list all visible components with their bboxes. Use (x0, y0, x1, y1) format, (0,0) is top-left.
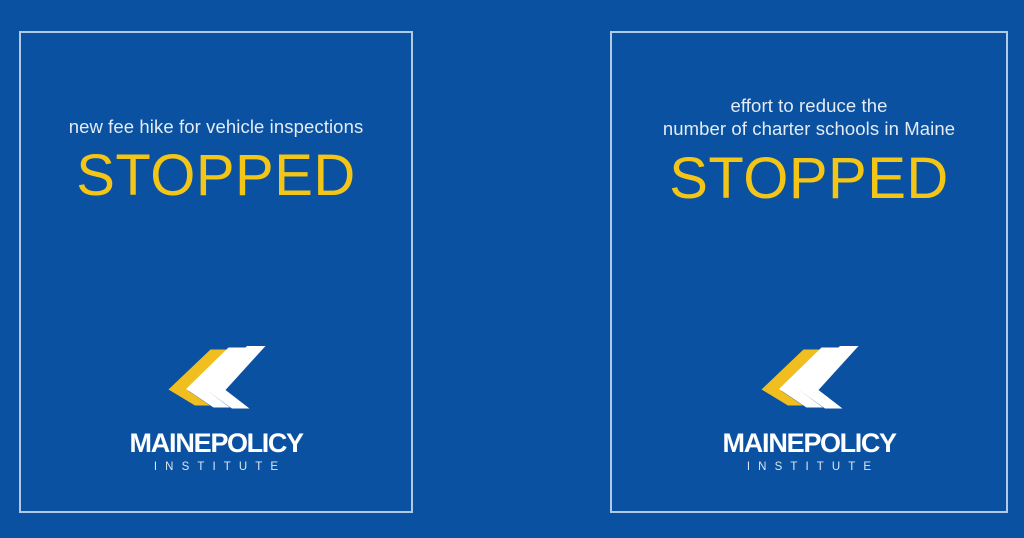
card-right-stopped-headline: STOPPED (612, 150, 1006, 208)
card-left-logo-word-maine: MAINE (129, 428, 210, 458)
maine-policy-institute-chevron-mark-icon (757, 345, 861, 421)
card-right-inner: effort to reduce the number of charter s… (612, 33, 1006, 511)
card-right-logo-word-institute: INSTITUTE (709, 462, 909, 474)
card-right-logo-word-maine: MAINE (722, 428, 803, 458)
card-left-logo: MAINEPOLICY INSTITUTE (116, 345, 316, 474)
graphic-canvas: new fee hike for vehicle inspections STO… (0, 0, 1024, 538)
card-right-logo-word-policy: POLICY (803, 428, 895, 458)
card-left-inner: new fee hike for vehicle inspections STO… (21, 33, 411, 511)
card-right-headline-block: effort to reduce the number of charter s… (612, 94, 1006, 208)
card-left-logo-wordmark: MAINEPOLICY (116, 430, 316, 457)
card-left-kicker-text: new fee hike for vehicle inspections (21, 115, 411, 138)
card-left-headline-block: new fee hike for vehicle inspections STO… (21, 115, 411, 205)
card-right: effort to reduce the number of charter s… (610, 31, 1008, 513)
card-left-stopped-headline: STOPPED (21, 147, 411, 205)
card-left: new fee hike for vehicle inspections STO… (19, 31, 413, 513)
card-right-logo-wordmark: MAINEPOLICY (709, 430, 909, 457)
card-right-kicker-text: effort to reduce the number of charter s… (612, 94, 1006, 141)
card-right-logo: MAINEPOLICY INSTITUTE (709, 345, 909, 474)
card-left-logo-word-institute: INSTITUTE (116, 462, 316, 474)
card-left-logo-word-policy: POLICY (210, 428, 302, 458)
maine-policy-institute-chevron-mark-icon (164, 345, 268, 421)
